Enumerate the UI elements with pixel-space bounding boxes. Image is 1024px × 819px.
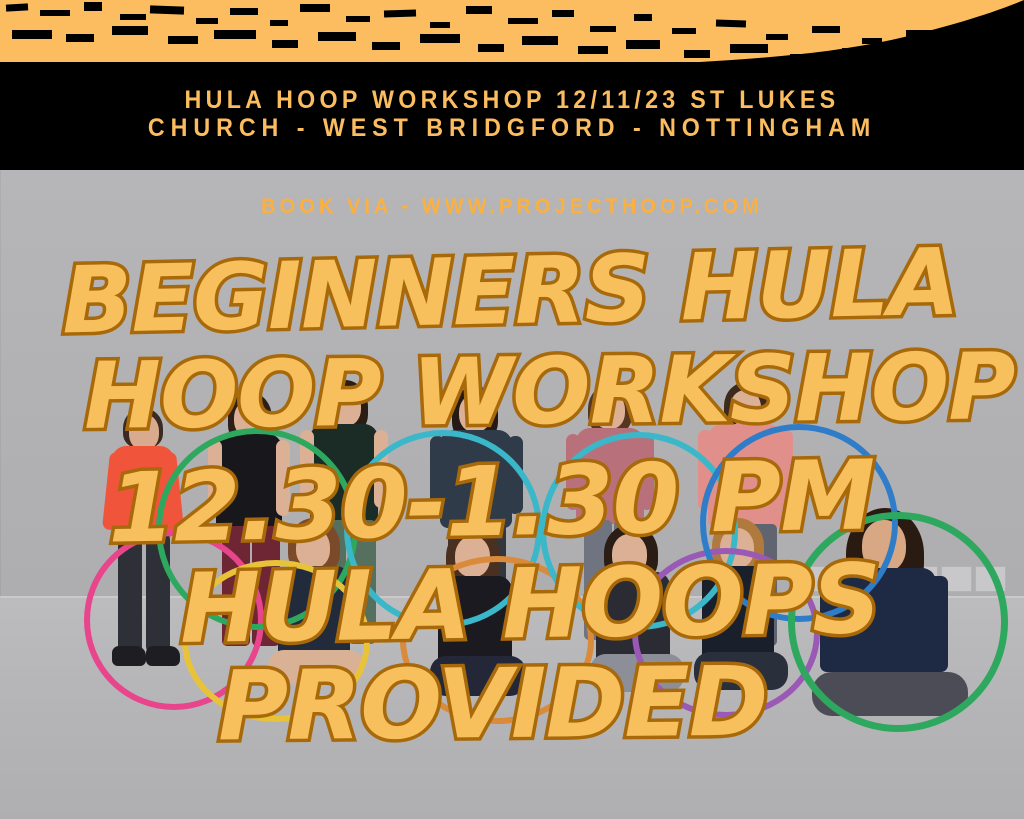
header-line-1: HULA HOOP WORKSHOP 12/11/23 ST LUKES [36, 88, 988, 113]
hoop-yellow [182, 560, 370, 722]
poster-root: HULA HOOP WORKSHOP 12/11/23 ST LUKES CHU… [0, 0, 1024, 819]
booking-url-text[interactable]: BOOK VIA - WWW.PROJECTHOOP.COM [26, 195, 999, 219]
header-line-2: CHURCH - WEST BRIDGFORD - NOTTINGHAM [36, 116, 988, 141]
hoop-green-2 [788, 512, 1008, 732]
